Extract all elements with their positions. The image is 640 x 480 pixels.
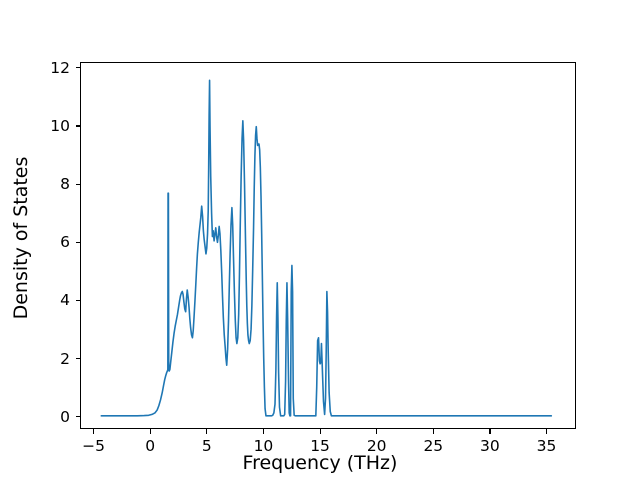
y-tick-mark [76, 184, 81, 185]
x-tick-mark [206, 429, 207, 434]
x-tick-mark [320, 429, 321, 434]
y-tick-mark [76, 125, 81, 126]
y-axis-label: Density of States [10, 88, 32, 388]
y-tick-mark [76, 358, 81, 359]
y-tick-label: 12 [18, 59, 70, 77]
y-tick-mark [76, 67, 81, 68]
y-tick-mark [76, 416, 81, 417]
x-tick-mark [93, 429, 94, 434]
x-axis-label: Frequency (THz) [0, 452, 640, 474]
phonon-dos-figure: −505101520253035 024681012 Frequency (TH… [0, 0, 640, 480]
x-tick-mark [150, 429, 151, 434]
x-tick-mark [433, 429, 434, 434]
x-tick-mark [263, 429, 264, 434]
x-tick-mark [546, 429, 547, 434]
y-tick-label: 0 [18, 408, 70, 426]
x-tick-mark [376, 429, 377, 434]
y-tick-mark [76, 242, 81, 243]
y-tick-mark [76, 300, 81, 301]
plot-area [80, 62, 576, 429]
x-tick-mark [489, 429, 490, 434]
dos-curve [101, 80, 551, 416]
dos-line-series [81, 63, 575, 428]
